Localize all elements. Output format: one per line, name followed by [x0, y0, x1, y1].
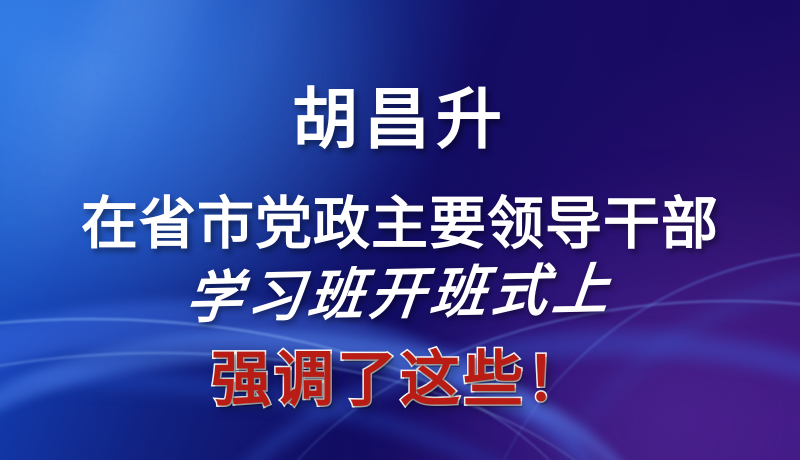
- headline-line-calligraphy: 学习班开班式上: [0, 258, 800, 331]
- poster-canvas: 胡昌升 在省市党政主要领导干部 学习班开班式上 强调了这些！: [0, 0, 800, 460]
- headline-line-subtitle: 在省市党政主要领导干部: [0, 196, 800, 253]
- headline-line-name: 胡昌升: [0, 86, 800, 152]
- headline-line-accent: 强调了这些！: [0, 350, 800, 410]
